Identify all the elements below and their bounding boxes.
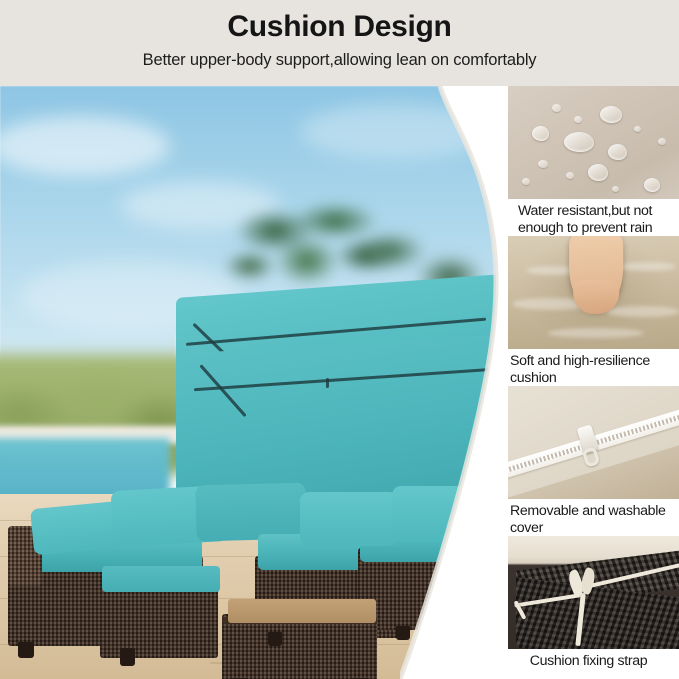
water-drop [532,126,549,141]
backrest-seam [199,364,246,417]
hand-pressing-cushion-image [508,236,679,349]
furniture-foot [18,642,34,658]
water-drop [538,160,548,168]
feature-caption-water-resistant: Water resistant,but not enough to preven… [500,199,679,237]
coffee-table-top [228,599,376,623]
hand [569,236,623,310]
feature-panel-fixing-strap: Cushion fixing strap [500,536,679,670]
feature-caption-soft-cushion: Soft and high-resilience cushion [500,349,679,387]
cloud [300,104,490,159]
ottoman-cushion [102,566,220,592]
cushion-fixing-strap-image [508,536,679,649]
water-drop [574,116,582,123]
zipper-on-cushion-cover-image [508,386,679,499]
backrest-seam [194,368,490,391]
feature-panel-column: Water resistant,but not enough to preven… [500,86,679,679]
water-drop [634,126,641,132]
water-drop [608,144,627,160]
feature-panel-removable-cover: Removable and washable cover [500,386,679,537]
water-drop [522,178,530,185]
water-drop [552,104,561,112]
feature-panel-water-resistant: Water resistant,but not enough to preven… [500,86,679,237]
water-drops-on-fabric-image [508,86,679,199]
feature-caption-removable-cover: Removable and washable cover [500,499,679,537]
cushion-fold [548,328,644,338]
furniture-foot [268,632,282,646]
ottoman-wicker-base [100,583,218,658]
water-drop [612,186,619,192]
water-drop [658,138,666,145]
water-drop [566,172,574,179]
water-drop [564,132,594,152]
back-pillow [392,486,470,542]
back-pillow [195,483,306,542]
header-banner: Cushion Design Better upper-body support… [0,0,679,86]
back-pillow [300,492,398,546]
water-drop [600,106,622,123]
water-drop [644,178,660,192]
page-title: Cushion Design [227,8,451,46]
furniture-foot [396,626,410,640]
feature-caption-fixing-strap: Cushion fixing strap [500,649,679,670]
backrest-seam [326,378,329,388]
infographic-page: Cushion Design Better upper-body support… [0,0,679,679]
cushion-fold [606,306,679,317]
hero-scene [0,86,500,679]
water-drop [588,164,608,181]
hero-product-photo [0,86,500,679]
page-subtitle: Better upper-body support,allowing lean … [143,48,537,72]
furniture-foot [120,648,135,666]
feature-panel-soft-cushion: Soft and high-resilience cushion [500,236,679,387]
cushion-fold [618,262,676,271]
